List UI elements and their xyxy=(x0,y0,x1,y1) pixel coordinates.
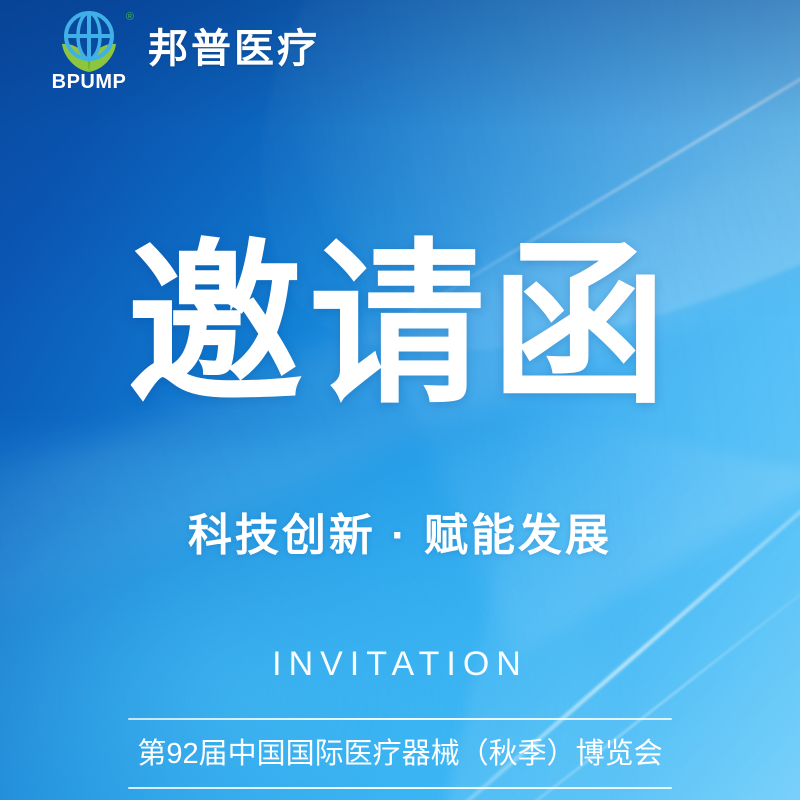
brand-header: ® BPUMP 邦普医疗 xyxy=(46,10,320,94)
poster-content: 邀请函 科技创新 · 赋能发展 INVITATION 第92届中国国际医疗器械（… xyxy=(0,0,800,800)
invitation-label: INVITATION xyxy=(0,645,800,684)
bpump-globe-leaf-logo-icon: ® BPUMP xyxy=(46,10,132,94)
brand-chinese-name: 邦普医疗 xyxy=(148,29,320,75)
subtitle: 科技创新 · 赋能发展 xyxy=(0,508,800,563)
brand-latin-name: BPUMP xyxy=(46,71,132,94)
registered-trademark-icon: ® xyxy=(126,12,134,23)
invitation-poster: ® BPUMP 邦普医疗 邀请函 科技创新 · 赋能发展 INVITATION … xyxy=(0,0,800,800)
divider-bottom xyxy=(128,787,672,789)
page-title: 邀请函 xyxy=(0,238,800,414)
footer-block: 第92届中国国际医疗器械（秋季）博览会 xyxy=(128,718,672,789)
event-name: 第92届中国国际医疗器械（秋季）博览会 xyxy=(128,720,672,787)
